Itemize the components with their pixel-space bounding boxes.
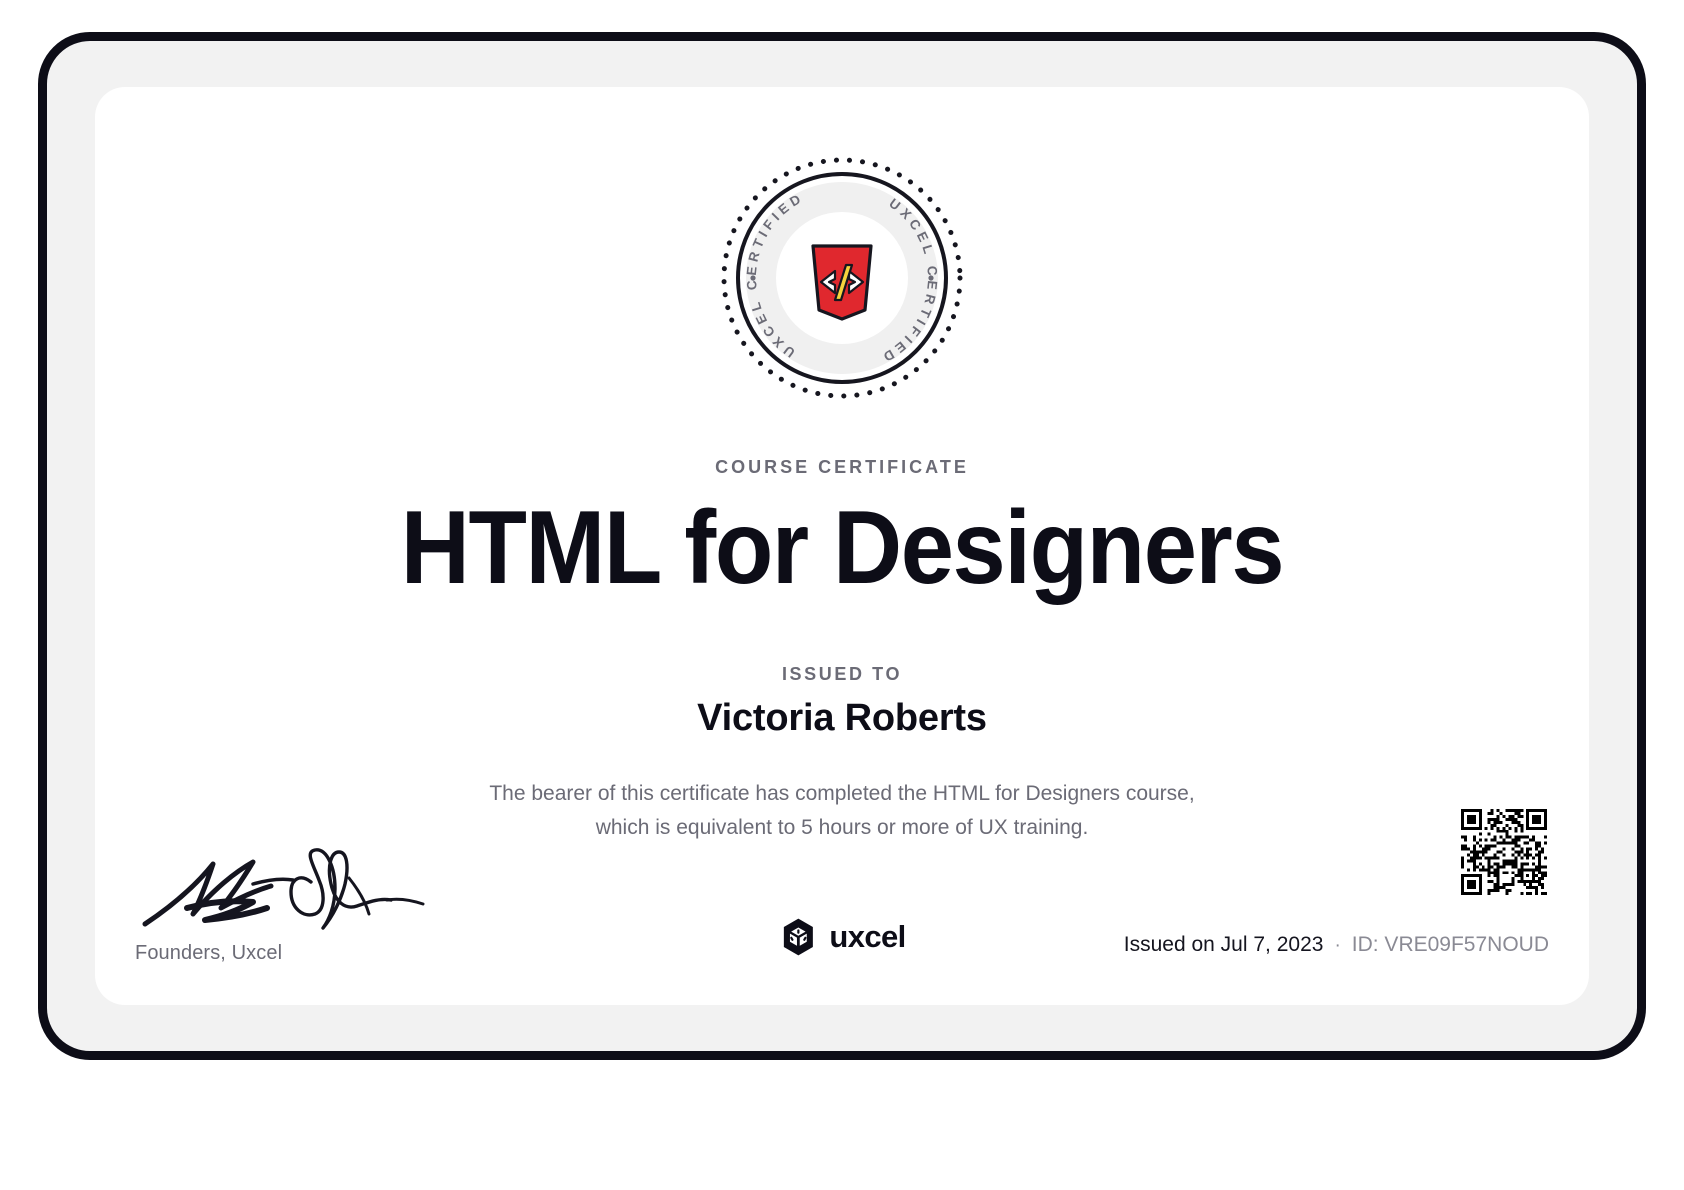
html5-shield-code-icon [813, 246, 871, 319]
issue-date: Issued on Jul 7, 2023 [1124, 933, 1324, 957]
certificate-meta: Issued on Jul 7, 2023 · ID: VRE09F57NOUD [1124, 933, 1549, 957]
recipient-name: Victoria Roberts [95, 697, 1589, 740]
certificate-footer: Founders, Uxcel uxc [95, 795, 1589, 1005]
uxcel-brand: uxcel [778, 917, 905, 957]
signature-block: Founders, Uxcel [135, 844, 465, 965]
meta-separator: · [1334, 935, 1340, 957]
certificate-kicker: COURSE CERTIFICATE [95, 457, 1589, 478]
page-title: HTML for Designers [155, 492, 1529, 604]
signature-caption: Founders, Uxcel [135, 942, 465, 965]
certificate-id: ID: VRE09F57NOUD [1352, 933, 1549, 957]
qr-code-icon[interactable] [1461, 809, 1547, 895]
uxcel-wordmark: uxcel [829, 919, 905, 955]
issued-to-label: ISSUED TO [95, 664, 1589, 685]
certificate-frame: UXCEL CERTIFIED UXCEL CERTIFIED C [38, 32, 1646, 1060]
certificate-body: UXCEL CERTIFIED UXCEL CERTIFIED C [95, 87, 1589, 1005]
uxcel-hexagon-cube-icon [778, 917, 818, 957]
certification-seal: UXCEL CERTIFIED UXCEL CERTIFIED [717, 153, 967, 403]
handwritten-signature-icon [135, 844, 435, 936]
